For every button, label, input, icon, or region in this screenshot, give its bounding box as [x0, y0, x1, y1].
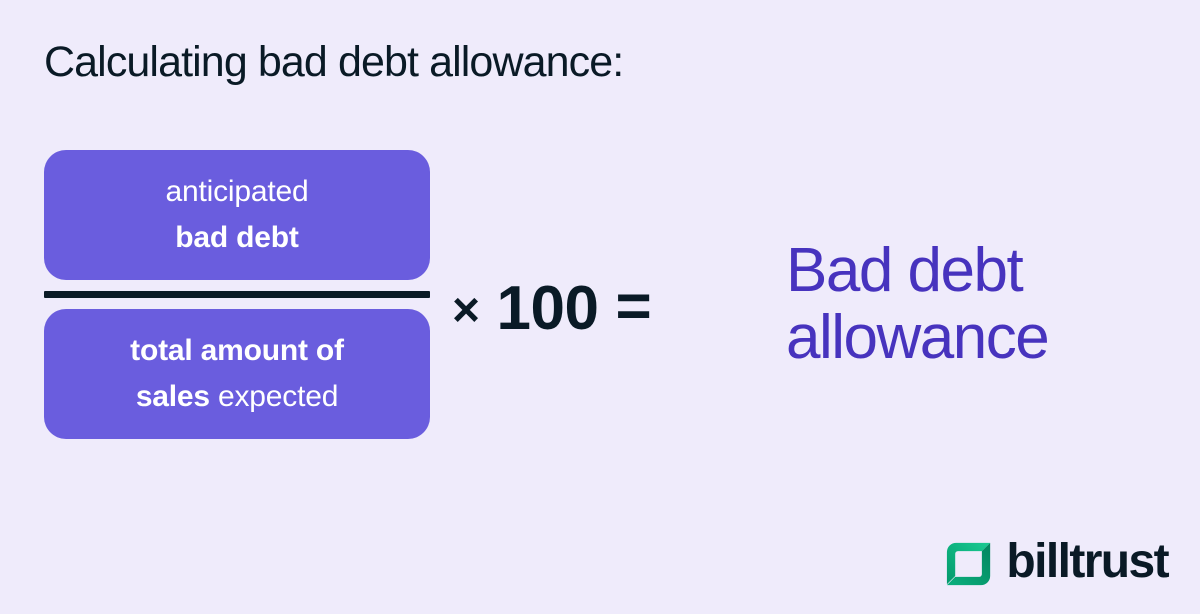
infographic-canvas: Calculating bad debt allowance: anticipa…	[0, 0, 1200, 614]
numerator-line-2: bad debt	[175, 215, 298, 261]
denominator-line-2-bold: sales	[136, 380, 210, 413]
operator-group: × 100 =	[452, 278, 651, 340]
result-line-2: allowance	[786, 305, 1186, 372]
fraction-bar	[44, 291, 430, 298]
numerator-box: anticipated bad debt	[44, 150, 430, 280]
denominator-line-1: total amount of	[130, 328, 344, 374]
billtrust-square-mark-icon	[946, 541, 992, 587]
denominator-line-2-regular: expected	[210, 380, 338, 413]
numerator-line-1: anticipated	[166, 169, 309, 215]
multiply-icon: ×	[452, 287, 480, 335]
fraction: anticipated bad debt total amount of sal…	[44, 150, 430, 439]
result-line-1: Bad debt	[786, 238, 1186, 305]
result-label: Bad debt allowance	[786, 238, 1186, 372]
page-title: Calculating bad debt allowance:	[44, 38, 623, 87]
billtrust-wordmark: billtrust	[1006, 538, 1168, 586]
multiplier-value: 100	[497, 278, 599, 340]
denominator-box: total amount of sales expected	[44, 309, 430, 439]
equals-icon: =	[615, 276, 651, 338]
billtrust-logo: billtrust	[946, 540, 1168, 588]
denominator-line-2: sales expected	[136, 374, 338, 420]
formula-diagram: anticipated bad debt total amount of sal…	[0, 150, 1200, 510]
